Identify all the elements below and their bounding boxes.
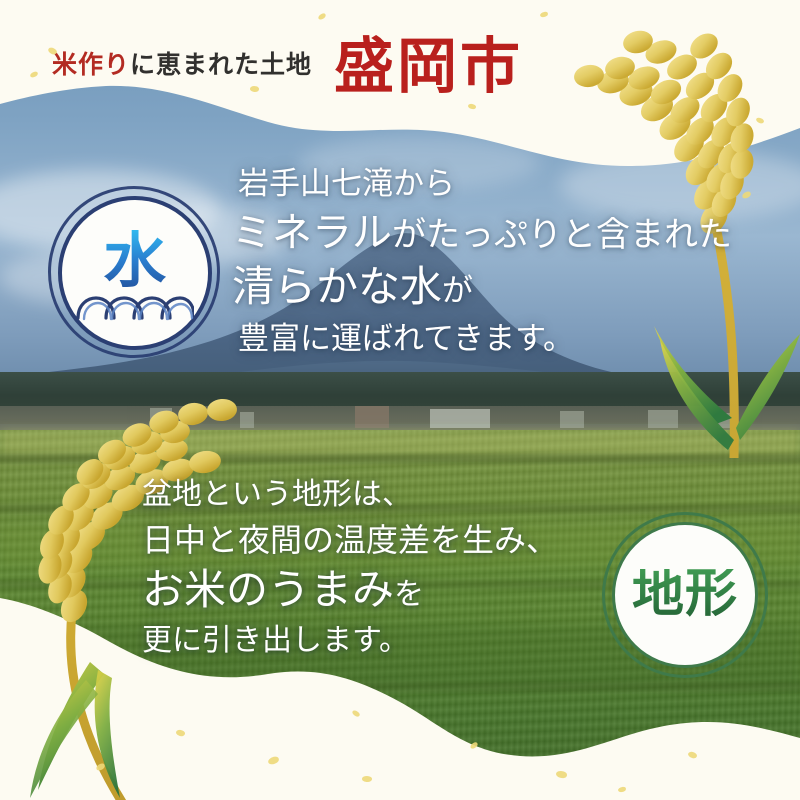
copy-block-water: 岩手山七滝から ミネラルがたっぷりと含まれた 清らかな水が 豊富に運ばれてきます… [232,168,732,354]
copy-water-line-2-emphasis: ミネラル [232,210,392,255]
page-title: 盛岡市 [334,18,523,105]
kicker-red-text: 米作り [52,52,130,79]
copy-water-line-3: 清らかな水が [232,267,732,309]
kicker-dark-text: に恵まれた土地 [130,52,312,79]
copy-water-line-2: ミネラルがたっぷりと含まれた [232,213,732,253]
copy-water-line-3-emphasis: 清らかな水 [232,265,442,311]
copy-water-line-1: 岩手山七滝から [232,168,732,199]
poster-root: 米作りに恵まれた土地 盛岡市 [0,0,800,800]
copy-terrain-line-1: 盆地という地形は、 [142,480,558,510]
copy-water-line-2-rest: がたっぷりと含まれた [392,217,732,254]
badge-water[interactable]: 水 [58,196,212,350]
copy-terrain-line-3-rest: を [394,578,424,611]
copy-terrain-line-3: お米のうまみを [142,570,558,612]
copy-water-line-3-rest: が [442,273,473,308]
copy-block-terrain: 盆地という地形は、 日中と夜間の温度差を生み、 お米のうまみを 更に引き出します… [142,480,558,656]
copy-terrain-line-3-emphasis: お米のうまみ [142,568,394,614]
header-kicker: 米作りに恵まれた土地 [52,45,312,81]
copy-terrain-line-4: 更に引き出します。 [142,626,558,656]
badge-terrain[interactable]: 地形 [612,522,758,668]
badge-terrain-outer-ring [602,512,768,678]
badge-water-outer-ring [48,186,220,358]
copy-water-line-4: 豊富に運ばれてきます。 [232,323,732,354]
copy-terrain-line-2: 日中と夜間の温度差を生み、 [142,524,558,556]
